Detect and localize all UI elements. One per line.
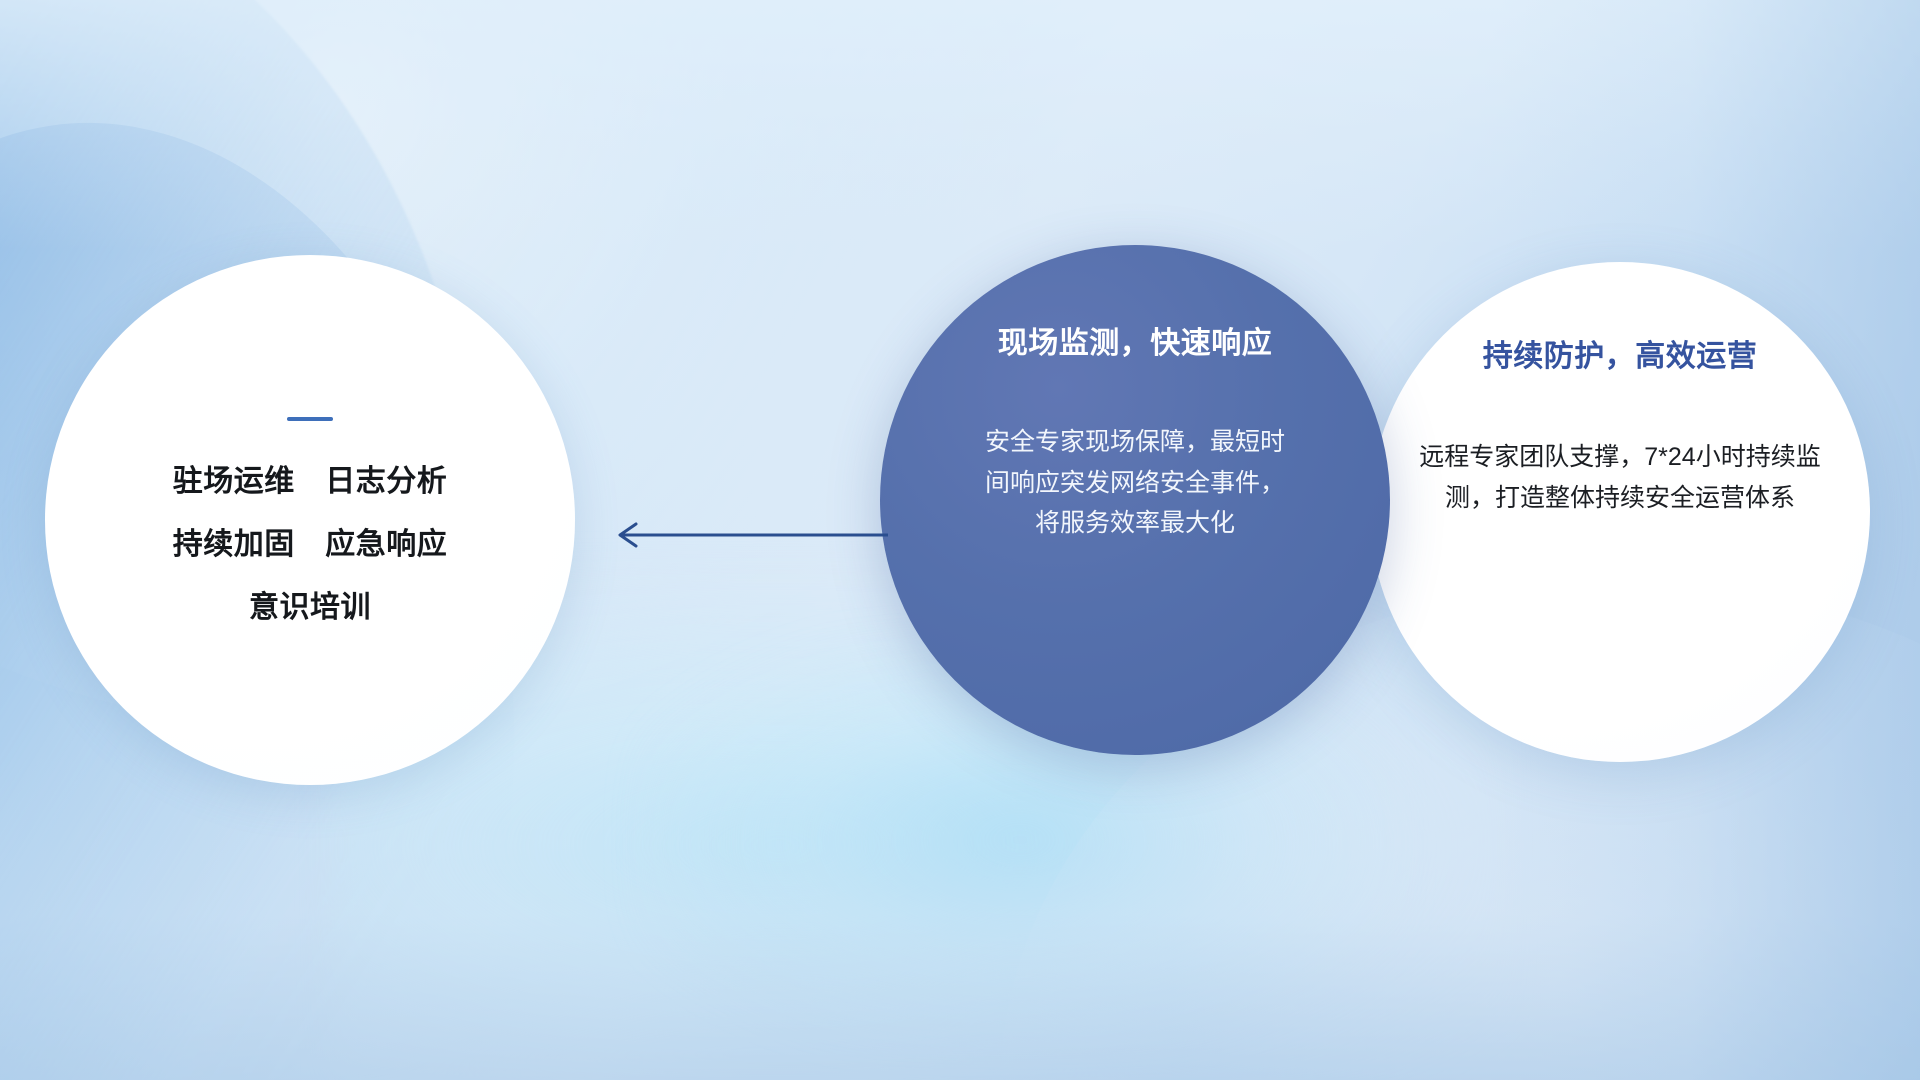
left-circle-line-2: 持续加固 应急响应 (173, 530, 448, 560)
right-operations-circle: 持续防护，高效运营 远程专家团队支撑，7*24小时持续监测，打造整体持续安全运营… (1370, 262, 1870, 762)
middle-circle-title: 现场监测，快速响应 (998, 327, 1273, 360)
right-circle-body: 远程专家团队支撑，7*24小时持续监测，打造整体持续安全运营体系 (1415, 437, 1825, 518)
right-circle-title: 持续防护，高效运营 (1483, 340, 1758, 373)
diagram-stage: 驻场运维 日志分析 持续加固 应急响应 意识培训 持续防护，高效运营 远程专家团… (0, 0, 1920, 1080)
left-circle-line-1: 驻场运维 日志分析 (173, 467, 448, 497)
middle-monitoring-circle: 现场监测，快速响应 安全专家现场保障，最短时间响应突发网络安全事件，将服务效率最… (880, 245, 1390, 755)
left-capability-circle: 驻场运维 日志分析 持续加固 应急响应 意识培训 (45, 255, 575, 785)
left-circle-divider (287, 417, 333, 421)
arrow-left-icon (600, 515, 890, 555)
middle-circle-body: 安全专家现场保障，最短时间响应突发网络安全事件，将服务效率最大化 (985, 422, 1285, 544)
left-circle-line-3: 意识培训 (249, 593, 371, 623)
